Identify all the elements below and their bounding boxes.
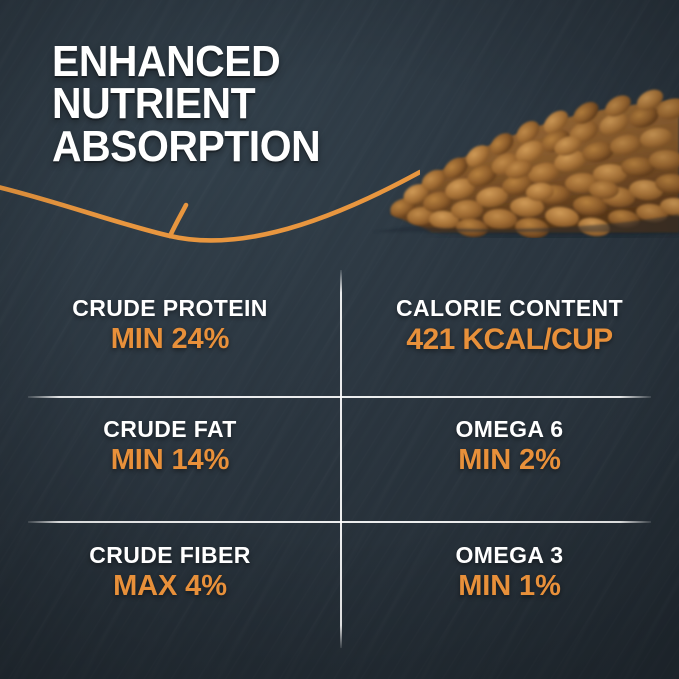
spec-value: 421 KCAL/CUP	[406, 324, 612, 356]
spec-cell-crude-fat: CRUDE FAT MIN 14%	[0, 396, 340, 521]
spec-label: OMEGA 3	[455, 543, 563, 567]
spec-cell-omega-3: OMEGA 3 MIN 1%	[340, 521, 679, 648]
spec-label: OMEGA 6	[455, 417, 563, 441]
spec-value: MAX 4%	[113, 571, 227, 602]
spec-label: CALORIE CONTENT	[396, 296, 623, 320]
spec-value: MIN 14%	[111, 445, 230, 476]
spec-cell-omega-6: OMEGA 6 MIN 2%	[340, 396, 679, 521]
spec-value: MIN 2%	[458, 445, 561, 476]
product-infographic: ENHANCED NUTRIENT ABSORPTION CRUDE PROTE…	[0, 0, 679, 679]
spec-label: CRUDE PROTEIN	[72, 296, 268, 320]
spec-cell-crude-fiber: CRUDE FIBER MAX 4%	[0, 521, 340, 648]
spec-label: CRUDE FIBER	[89, 543, 251, 567]
spec-cell-crude-protein: CRUDE PROTEIN MIN 24%	[0, 278, 340, 396]
spec-label: CRUDE FAT	[103, 417, 237, 441]
spec-cell-calorie-content: CALORIE CONTENT 421 KCAL/CUP	[340, 278, 679, 396]
nutrition-spec-grid: CRUDE PROTEIN MIN 24% CALORIE CONTENT 42…	[0, 278, 679, 648]
headline-line-2: NUTRIENT	[52, 83, 424, 125]
page-title: ENHANCED NUTRIENT ABSORPTION	[52, 41, 424, 168]
spec-value: MIN 1%	[458, 571, 561, 602]
headline-line-1: ENHANCED	[52, 41, 424, 83]
spec-value: MIN 24%	[111, 324, 230, 355]
headline-line-3: ABSORPTION	[52, 126, 424, 168]
